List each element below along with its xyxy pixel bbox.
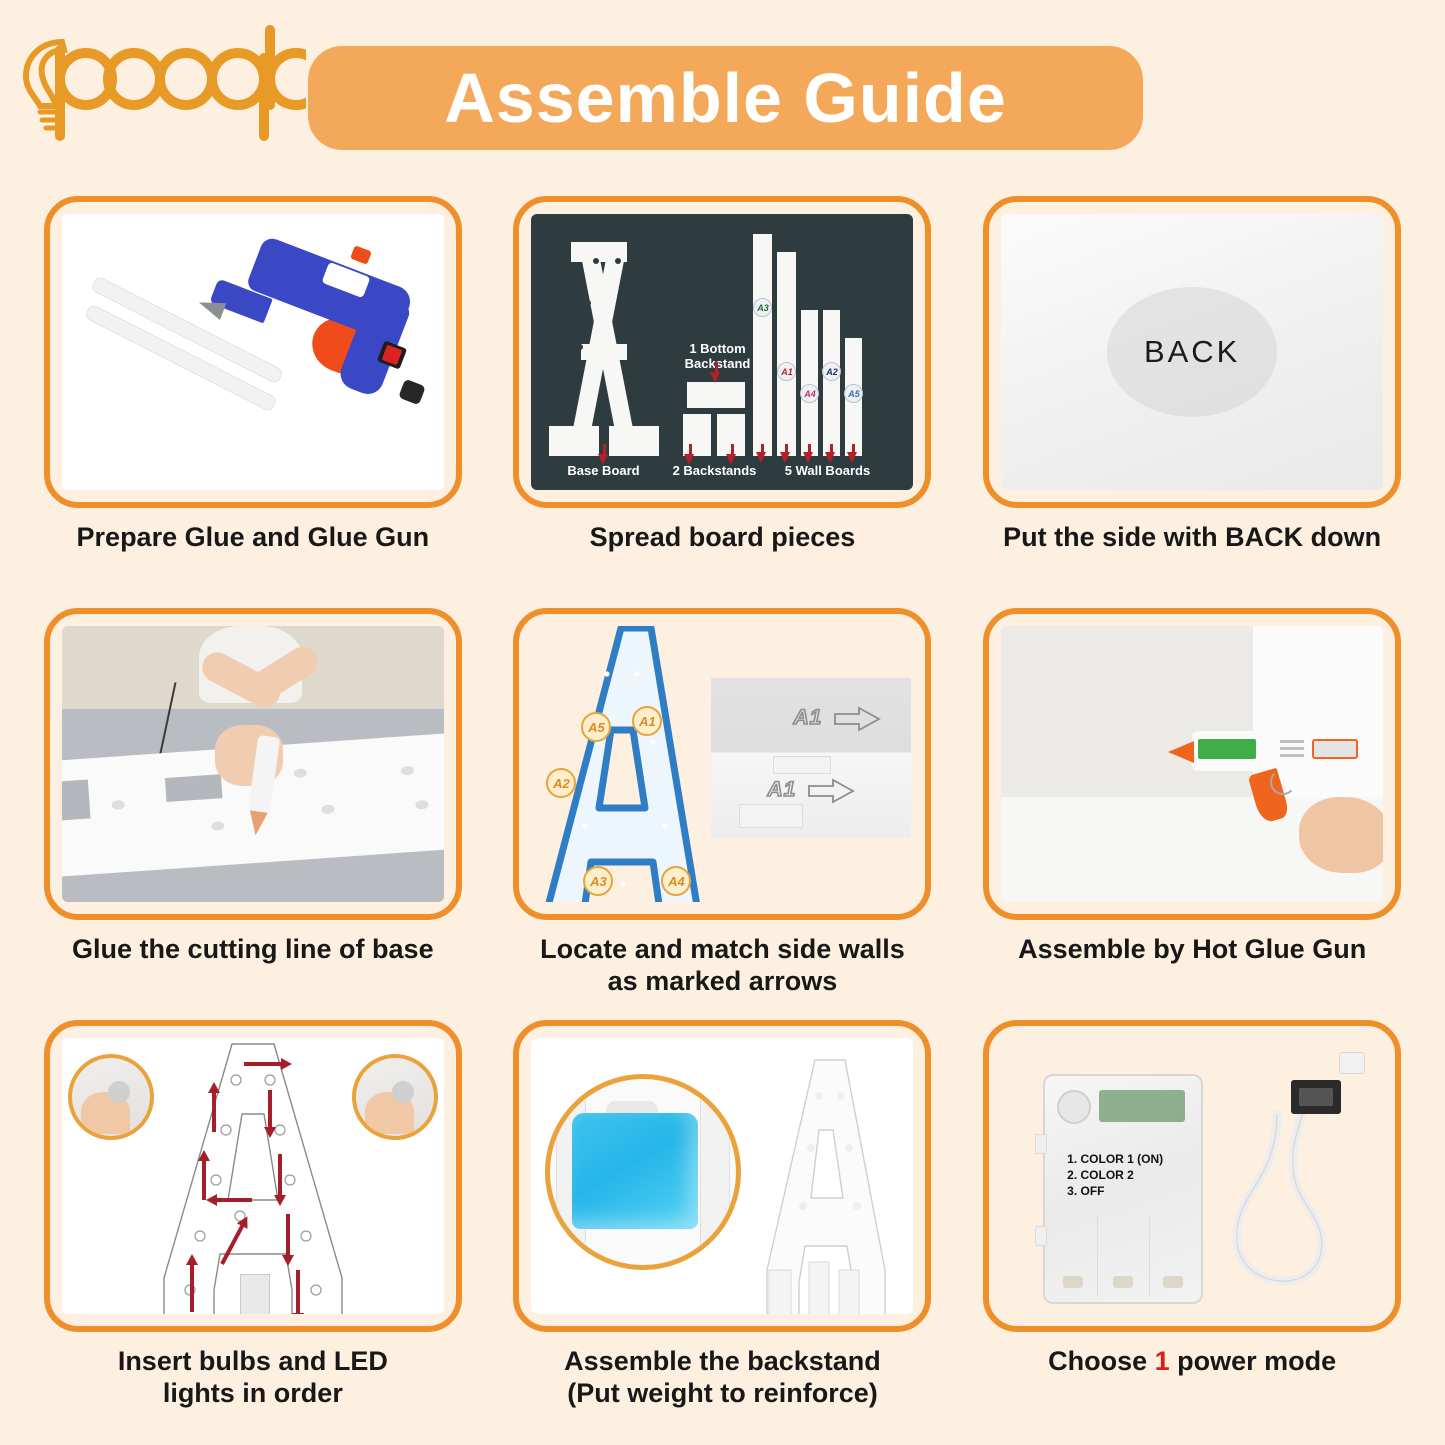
circuit-board (1099, 1090, 1185, 1122)
power-mode-1: 1. COLOR 1 (ON) (1067, 1152, 1163, 1168)
step-4-caption: Glue the cutting line of base (33, 934, 473, 966)
arrow-order-down-1 (268, 1090, 272, 1128)
bottom-backstand-piece (687, 382, 745, 408)
title-banner: Assemble Guide (308, 46, 1143, 150)
glue-gun-cord-cap (398, 379, 426, 406)
step-8-frame (513, 1020, 931, 1332)
photo-backstand-with-water-bag (531, 1038, 913, 1314)
hand-holding-gun (1299, 797, 1383, 873)
step-card-9: 1. COLOR 1 (ON) 2. COLOR 2 3. OFF (957, 1020, 1427, 1445)
power-mode-list: 1. COLOR 1 (ON) 2. COLOR 2 3. OFF (1067, 1152, 1163, 1199)
step-card-2: A3 A1 A4 A2 A5 1 Bottom Backstand Base B… (488, 196, 958, 608)
a1-mark-lower: A1 (767, 778, 796, 802)
battery-slot (1163, 1276, 1183, 1288)
photo-gluing-base (62, 626, 444, 902)
assemble-guide-page: Assemble Guide (0, 0, 1445, 1445)
power-mode-3: 3. OFF (1067, 1184, 1163, 1200)
photo-battery-box-and-usb-cable: 1. COLOR 1 (ON) 2. COLOR 2 3. OFF (1001, 1038, 1383, 1314)
battery-slot (1063, 1276, 1083, 1288)
dc-plug-connector (1339, 1052, 1365, 1074)
page-header: Assemble Guide (0, 0, 1445, 190)
photo-hot-glue-gun-assembly (1001, 626, 1383, 902)
a1-mark-upper: A1 (793, 706, 822, 730)
arrow-order-up-3 (190, 1264, 194, 1312)
step-1-frame (44, 196, 462, 508)
usb-type-a-connector (1291, 1080, 1341, 1114)
step-9-caption-highlight: 1 (1155, 1346, 1170, 1376)
step-7-caption: Insert bulbs and LED lights in order (33, 1346, 473, 1410)
lightbulb-icon (16, 24, 306, 154)
wall-board-a4 (801, 310, 818, 456)
step-6-frame (983, 608, 1401, 920)
step-card-5: A5 A1 A2 A3 A4 A1 A1 (488, 608, 958, 1020)
arrow-order-top (244, 1062, 282, 1066)
step-9-media: 1. COLOR 1 (ON) 2. COLOR 2 3. OFF (1001, 1038, 1383, 1314)
step-card-6: Assemble by Hot Glue Gun (957, 608, 1427, 1020)
letter-a-bulb-map (128, 1040, 378, 1314)
hot-glue-gun (1192, 731, 1314, 771)
step-card-8: Assemble the backstand (Put weight to re… (488, 1020, 958, 1445)
letter-a-with-backstand (753, 1056, 903, 1314)
bulb-icon (108, 1081, 130, 1103)
step-3-caption: Put the side with BACK down (972, 522, 1412, 554)
step-card-3: BACK Put the side with BACK down (957, 196, 1427, 608)
label-2-backstands: 2 Backstands (659, 464, 769, 479)
power-mode-2: 2. COLOR 2 (1067, 1168, 1163, 1184)
label-base-board: Base Board (543, 464, 663, 479)
inset-photo-water-bag (545, 1074, 741, 1270)
step-5-frame: A5 A1 A2 A3 A4 A1 A1 (513, 608, 931, 920)
backstand-piece (683, 414, 711, 456)
step-2-caption: Spread board pieces (502, 522, 942, 554)
water-bag-weight (572, 1113, 698, 1229)
inset-photo-twist-bulb (352, 1054, 438, 1140)
wall-board-a2 (823, 310, 840, 456)
battery-box-latch (1035, 1226, 1047, 1246)
glue-gun-stick-feed (350, 245, 372, 265)
step-card-4: Glue the cutting line of base (18, 608, 488, 1020)
wall-step-upper (773, 756, 831, 774)
step-3-frame: BACK (983, 196, 1401, 508)
arrow-order-down-4 (296, 1270, 300, 1314)
step-2-media: A3 A1 A4 A2 A5 1 Bottom Backstand Base B… (531, 214, 913, 490)
step-7-frame (44, 1020, 462, 1332)
mode-button[interactable] (1057, 1090, 1091, 1124)
wall-step-lower (739, 804, 803, 828)
led-battery-pack (240, 1274, 270, 1314)
page-title: Assemble Guide (444, 63, 1007, 133)
letter-a-outline (533, 626, 713, 902)
label-5-wall-boards: 5 Wall Boards (763, 464, 891, 479)
bulb-icon (392, 1081, 414, 1103)
step-5-caption: Locate and match side walls as marked ar… (502, 934, 942, 998)
a1-arrow-upper-icon (833, 706, 881, 732)
step-1-caption: Prepare Glue and Glue Gun (33, 522, 473, 554)
arrow-order-mid (216, 1198, 252, 1202)
arrow-order-down-2 (278, 1154, 282, 1196)
photo-back-board: BACK (1001, 214, 1383, 490)
diagram-board-pieces: A3 A1 A4 A2 A5 1 Bottom Backstand Base B… (531, 214, 913, 490)
step-9-caption-after: power mode (1170, 1346, 1337, 1376)
glue-stick-loaded (1312, 739, 1358, 759)
wall-board-a1 (777, 252, 796, 456)
steps-grid: Prepare Glue and Glue Gun (0, 196, 1445, 1445)
glue-gun-brand-label (1198, 739, 1256, 759)
step-3-media: BACK (1001, 214, 1383, 490)
backstand-right (700, 1097, 730, 1257)
a1-arrow-lower-icon (807, 778, 855, 804)
inset-photo-insert-bulb (68, 1054, 154, 1140)
step-5-media: A5 A1 A2 A3 A4 A1 A1 (531, 626, 913, 902)
battery-box: 1. COLOR 1 (ON) 2. COLOR 2 3. OFF (1043, 1074, 1203, 1304)
step-8-caption: Assemble the backstand (Put weight to re… (502, 1346, 942, 1410)
battery-slot (1113, 1276, 1133, 1288)
step-9-frame: 1. COLOR 1 (ON) 2. COLOR 2 3. OFF (983, 1020, 1401, 1332)
glue-gun-wire-stand (1270, 769, 1296, 795)
step-6-media (1001, 626, 1383, 902)
brand-logo (16, 24, 306, 154)
step-7-media (62, 1038, 444, 1314)
wall-board-left (1001, 626, 1253, 797)
step-8-media (531, 1038, 913, 1314)
step-1-media (62, 214, 444, 490)
diagram-side-wall-matching: A5 A1 A2 A3 A4 A1 A1 (531, 626, 913, 902)
arrow-order-down-3 (286, 1214, 290, 1256)
glue-gun-nozzle-icon (1168, 741, 1194, 763)
step-9-caption-before: Choose (1048, 1346, 1155, 1376)
step-2-frame: A3 A1 A4 A2 A5 1 Bottom Backstand Base B… (513, 196, 931, 508)
battery-box-latch (1035, 1134, 1047, 1154)
step-6-caption: Assemble by Hot Glue Gun (972, 934, 1412, 966)
step-card-7: Insert bulbs and LED lights in order (18, 1020, 488, 1445)
back-label-text: BACK (1144, 334, 1240, 370)
step-card-1: Prepare Glue and Glue Gun (18, 196, 488, 608)
step-4-frame (44, 608, 462, 920)
diagram-bulb-insertion-order (62, 1038, 444, 1314)
step-9-caption: Choose 1 power mode (972, 1346, 1412, 1378)
photo-glue-gun-and-sticks (62, 214, 444, 490)
photo-a1-arrow-marks: A1 A1 (711, 678, 911, 838)
step-4-media (62, 626, 444, 902)
arrow-order-up-1 (212, 1092, 216, 1132)
